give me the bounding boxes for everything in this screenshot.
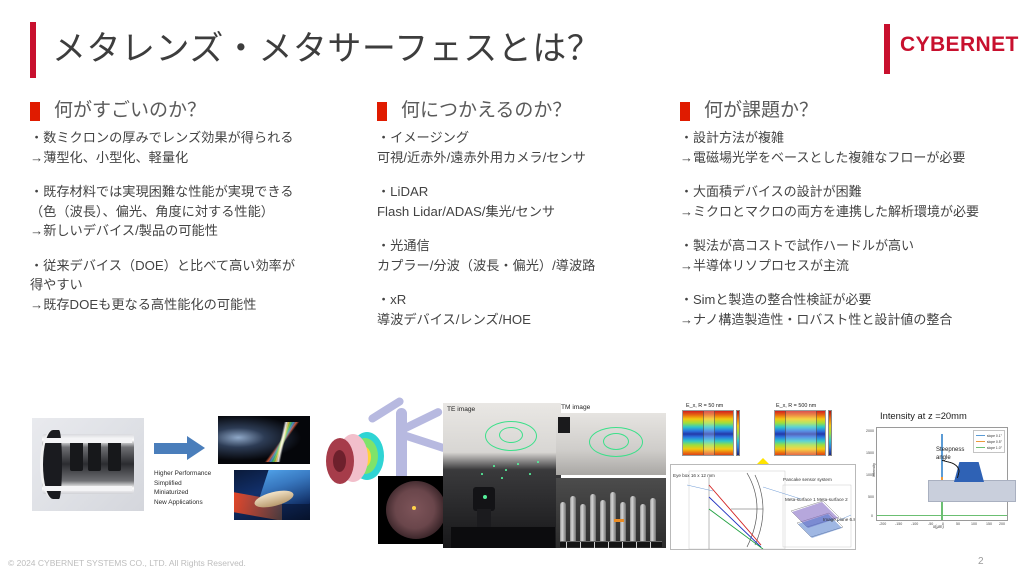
paragraph: ・設計方法が複雑 →電磁場光学をベースとした複雑なフローが必要 [680,128,1015,167]
figure-lens-to-metalens: Higher Performance Simplified Miniaturiz… [30,414,310,534]
raytrace-diagram: Eye box 16 x 12 mm Pancake sensor system… [670,464,856,550]
conventional-lens-photo [32,418,144,511]
text-line: ・大面積デバイスの設計が困難 [680,182,1015,202]
chart-ytick: 2000 [866,429,874,433]
text-line: ・設計方法が複雑 [680,128,1015,148]
text-line: ・既存材料では実現困難な性能が実現できる [30,182,360,202]
chart-title: Intensity at z =20mm [880,410,967,421]
figure-intensity-chart: Intensity at z =20mm Intensity 2000 1500… [862,410,1020,548]
optical-mount [473,487,495,511]
field-map-left [682,410,734,456]
column-heading: 何がすごいのか？ [30,100,360,122]
paragraph: ・大面積デバイスの設計が困難 →ミクロとマクロの両方を連携した解析環境が必要 [680,182,1015,221]
field-map-right [774,410,826,456]
paragraph: ・イメージング 可視/近赤外/遠赤外用カメラ/センサ [377,128,677,167]
text-line: ・光通信 [377,236,677,256]
vessel-branch [402,431,448,453]
paragraph: ・数ミクロンの厚みでレンズ効果が得られる →薄型化、小型化、軽量化 [30,128,360,167]
text-line: ・Simと製造の整合性検証が必要 [680,290,1015,310]
chart-xlabel: x(μm) [933,524,944,529]
heading-marker-icon [377,102,387,121]
column-what-for: 何につかえるのか？ ・イメージング 可視/近赤外/遠赤外用カメラ/センサ ・Li… [377,100,677,329]
chart-ytick: 0 [871,514,873,518]
text-line: ・従来デバイス（DOE）と比べて高い効率が [30,256,360,276]
lens-rib [44,438,132,443]
projected-pattern [499,427,523,443]
colorbar-left [736,410,740,456]
legend-label: slope 0.1° [987,434,1002,438]
cybernet-logo: CYBERNET [900,33,1019,57]
raytrace-label-pancake: Pancake sensor system [783,477,832,482]
chart-xtick: 50 [956,522,960,526]
paragraph: ・Simと製造の整合性検証が必要 →ナノ構造製造性・ロバスト性と設計値の整合 [680,290,1015,329]
text-line: Flash Lidar/ADAS/集光/センサ [377,202,677,222]
retina-layer [333,450,346,472]
chart-ytick: 1500 [866,451,874,455]
text-line: →ミクロとマクロの両方を連携した解析環境が必要 [680,202,1015,222]
figure-te-tm-sem: TE image TM image [443,403,665,548]
paragraph: ・LiDAR Flash Lidar/ADAS/集光/センサ [377,182,677,221]
page-title: メタレンズ・メタサーフェスとは？ [52,23,601,75]
paragraph: ・既存材料では実現困難な性能が実現できる （色（波長）、偏光、角度に対する性能）… [30,182,360,241]
lens-rib [44,486,132,491]
text-line: 可視/近赤外/遠赤外用カメラ/センサ [377,148,677,168]
legend-swatch [976,441,985,442]
text-line: ・xR [377,290,677,310]
chart-xtick: 200 [999,522,1005,526]
chart-xtick: -200 [879,522,886,526]
text-line: →ナノ構造製造性・ロバスト性と設計値の整合 [680,310,1015,330]
text-line: →新しいデバイス/製品の可能性 [30,221,360,241]
page-number: 2 [978,556,984,567]
logo-accent-bar [884,24,890,74]
column-heading-label: 何がすごいのか？ [54,100,206,122]
text-line: →既存DOEも更なる高性能化の可能性 [30,295,360,315]
text-line: →電磁場光学をベースとした複雑なフローが必要 [680,148,1015,168]
transition-arrow-icon [154,436,206,460]
figure-strip: Higher Performance Simplified Miniaturiz… [0,400,1023,550]
field-map-right-label: E_x, R = 500 nm [776,403,816,409]
chart-xtick: 150 [986,522,992,526]
chart-xtick: -100 [911,522,918,526]
raytrace-label-imageplane: Image plane 6.86 x 2.56 mm [823,517,856,522]
optical-table [451,527,555,548]
text-line: ・数ミクロンの厚みでレンズ効果が得られる [30,128,360,148]
tm-fixture [558,417,570,433]
colorbar-right [828,410,832,456]
column-what-is-great: 何がすごいのか？ ・数ミクロンの厚みでレンズ効果が得られる →薄型化、小型化、軽… [30,100,360,314]
title-accent-bar [30,22,36,78]
paragraph: ・製法が高コストで試作ハードルが高い →半導体リソプロセスが主流 [680,236,1015,275]
chart-ytick: 1000 [866,473,874,477]
projected-pattern [603,433,629,450]
column-challenges: 何が課題か？ ・設計方法が複雑 →電磁場光学をベースとした複雑なフローが必要 ・… [680,100,1015,329]
copyright-text: © 2024 CYBERNET SYSTEMS CO., LTD. All Ri… [8,558,246,568]
legend-label: slope 1.0° [987,446,1002,450]
metalens-beam-image [234,470,310,520]
text-line: →薄型化、小型化、軽量化 [30,148,360,168]
tm-image-label: TM image [561,404,590,411]
heading-marker-icon [30,102,40,121]
paragraph: ・光通信 カプラー/分波（波長・偏光）/導波路 [377,236,677,275]
chart-xtick: -150 [895,522,902,526]
field-map-left-label: E_x, R = 50 nm [686,403,723,409]
legend-label: slope 0.5° [987,440,1002,444]
text-line: 得やすい [30,275,360,295]
sem-scalebar [560,541,662,547]
raytrace-label-eyebox: Eye box 16 x 12 mm [673,473,715,478]
text-line: ・LiDAR [377,182,677,202]
column-heading: 何が課題か？ [680,100,1015,122]
heading-marker-icon [680,102,690,121]
chart-xtick: 100 [971,522,977,526]
raytrace-label-meta2: Meta-surface 2 [817,497,848,502]
column-heading: 何につかえるのか？ [377,100,677,122]
column-heading-label: 何が課題か？ [704,100,818,122]
text-line: （色（波長）、偏光、角度に対する性能） [30,202,360,222]
legend-swatch [976,435,985,436]
chart-ytick: 500 [868,495,874,499]
legend-item: slope 1.0° [976,445,1002,451]
paragraph: ・従来デバイス（DOE）と比べて高い効率が 得やすい →既存DOEも更なる高性能… [30,256,360,315]
sem-nanopillar-image [556,478,666,548]
text-line: ・製法が高コストで試作ハードルが高い [680,236,1015,256]
figure-field-and-raytrace: E_x, R = 50 nm E_x, R = 500 nm [668,402,858,552]
slide-canvas: メタレンズ・メタサーフェスとは？ CYBERNET 何がすごいのか？ ・数ミクロ… [0,0,1023,573]
text-line: →半導体リソプロセスが主流 [680,256,1015,276]
paragraph: ・xR 導波デバイス/レンズ/HOE [377,290,677,329]
text-line: カプラー/分波（波長・偏光）/導波路 [377,256,677,276]
te-image-label: TE image [447,406,475,413]
substrate-shape [928,480,1016,502]
column-heading-label: 何につかえるのか？ [401,100,571,122]
raytrace-label-meta1: Meta-surface 1 [785,497,816,502]
metalens-dispersion-image [218,416,310,464]
text-line: ・イメージング [377,128,677,148]
text-line: 導波デバイス/レンズ/HOE [377,310,677,330]
